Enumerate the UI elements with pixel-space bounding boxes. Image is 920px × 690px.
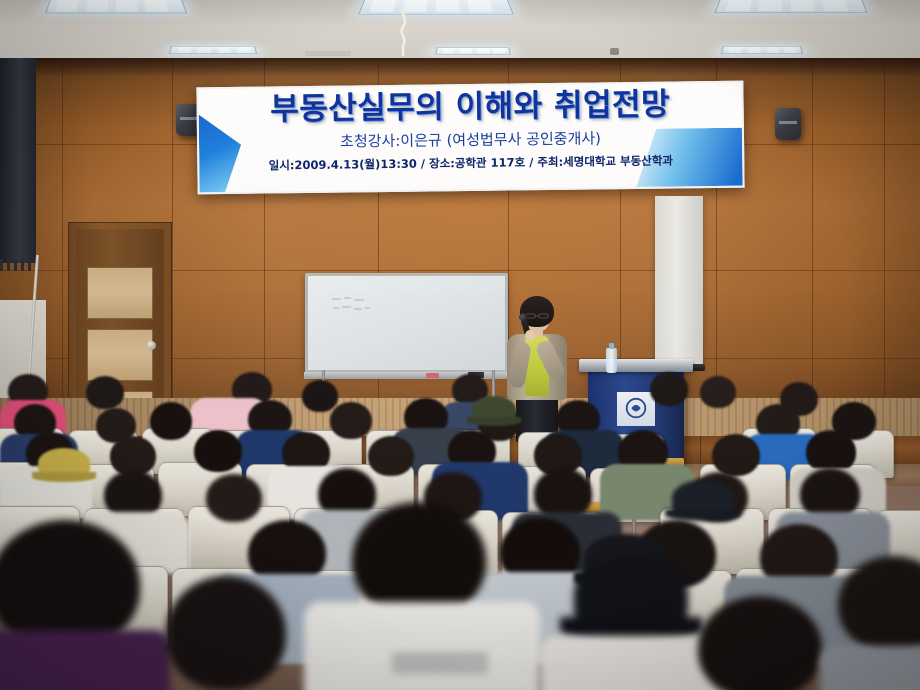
ceiling-light xyxy=(715,0,868,13)
event-banner: 부동산실무의 이해와 취업전망 초청강사:이은규 (여성법무사 공인중개사) 일… xyxy=(196,81,744,195)
presenter-hand xyxy=(525,330,535,341)
ceiling-light xyxy=(169,46,257,54)
banner-title: 부동산실무의 이해와 취업전망 xyxy=(270,89,670,127)
podium-emblem xyxy=(617,392,655,426)
ceiling-light xyxy=(45,0,187,13)
foreground-black-cap xyxy=(574,556,688,632)
university-crest-icon xyxy=(622,396,650,422)
ceiling-light xyxy=(721,46,803,54)
wall-speaker-right xyxy=(775,108,801,140)
tshirt-print xyxy=(392,652,488,674)
water-bottle xyxy=(606,348,617,373)
ceiling-vent xyxy=(305,51,351,56)
audience-cap xyxy=(472,396,516,422)
glasses-icon xyxy=(525,313,550,319)
audience-cap xyxy=(672,480,734,516)
podium-top-surface xyxy=(579,359,693,372)
banner-info-line: 일시:2009.4.13(월)13:30 / 장소:공학관 117호 / 주최:… xyxy=(269,152,673,173)
lecture-hall-photo: 부동산실무의 이해와 취업전망 초청강사:이은규 (여성법무사 공인중개사) 일… xyxy=(0,0,920,690)
ceiling-light xyxy=(435,48,511,55)
whiteboard-writing xyxy=(330,294,382,316)
whiteboard xyxy=(305,273,508,373)
audience-cap xyxy=(38,448,90,478)
hanging-cable-icon xyxy=(396,6,412,56)
wall-shadow-band xyxy=(0,58,920,76)
banner-subtitle: 초청강사:이은규 (여성법무사 공인중개사) xyxy=(340,127,601,151)
white-tshirt xyxy=(304,602,540,690)
projection-screen xyxy=(655,196,703,366)
door-knob-icon[interactable] xyxy=(147,341,156,350)
ceiling-sensor xyxy=(610,48,619,55)
ceiling-light xyxy=(358,0,513,14)
side-curtain xyxy=(0,58,36,263)
